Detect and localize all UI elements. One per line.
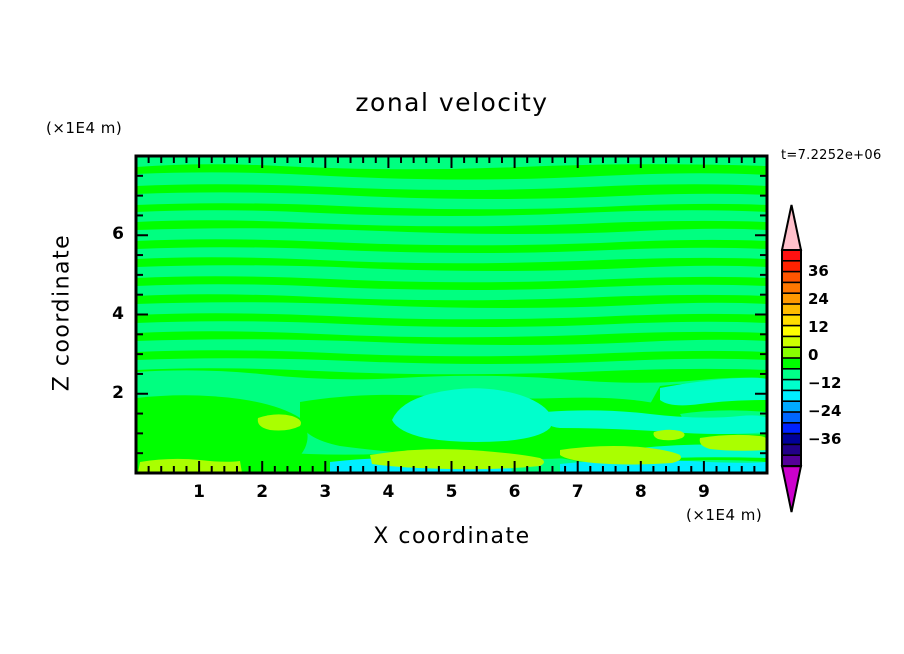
x-tick-label: 1 xyxy=(179,482,219,502)
contour-field xyxy=(136,156,767,473)
colorbar-band xyxy=(782,336,801,347)
colorbar-band xyxy=(782,423,801,434)
colorbar-tick-label: −24 xyxy=(808,402,841,420)
colorbar-band xyxy=(782,434,801,445)
y-tick-label: 2 xyxy=(98,383,124,403)
y-tick-label: 6 xyxy=(98,224,124,244)
colorbar-tick-label: 36 xyxy=(808,262,829,280)
colorbar-tick-label: 0 xyxy=(808,346,818,364)
colorbar-band xyxy=(782,282,801,293)
colorbar-band xyxy=(782,293,801,304)
colorbar-band xyxy=(782,272,801,283)
colorbar-tick-label: 24 xyxy=(808,290,829,308)
colorbar-band xyxy=(782,401,801,412)
colorbar-band xyxy=(782,390,801,401)
x-tick-label: 5 xyxy=(432,482,472,502)
colorbar-tick-label: −12 xyxy=(808,374,841,392)
x-tick-label: 9 xyxy=(684,482,724,502)
colorbar-cap-bottom xyxy=(782,466,801,512)
colorbar xyxy=(782,205,801,512)
colorbar-band xyxy=(782,250,801,261)
colorbar-band xyxy=(782,347,801,358)
colorbar-tick-label: 12 xyxy=(808,318,829,336)
x-tick-label: 7 xyxy=(558,482,598,502)
chart-canvas: zonal velocity (×1E4 m) (×1E4 m) t=7.225… xyxy=(0,0,904,654)
colorbar-band xyxy=(782,412,801,423)
y-tick-label: 4 xyxy=(98,304,124,324)
colorbar-band xyxy=(782,369,801,380)
colorbar-band xyxy=(782,444,801,455)
x-tick-label: 3 xyxy=(305,482,345,502)
colorbar-band xyxy=(782,326,801,337)
colorbar-band xyxy=(782,380,801,391)
colorbar-cap-top xyxy=(782,205,801,250)
colorbar-band xyxy=(782,358,801,369)
x-tick-label: 4 xyxy=(368,482,408,502)
colorbar-band xyxy=(782,304,801,315)
colorbar-band xyxy=(782,261,801,272)
colorbar-band xyxy=(782,455,801,466)
x-tick-label: 8 xyxy=(621,482,661,502)
x-tick-label: 6 xyxy=(495,482,535,502)
colorbar-tick-label: −36 xyxy=(808,430,841,448)
colorbar-band xyxy=(782,315,801,326)
x-tick-label: 2 xyxy=(242,482,282,502)
